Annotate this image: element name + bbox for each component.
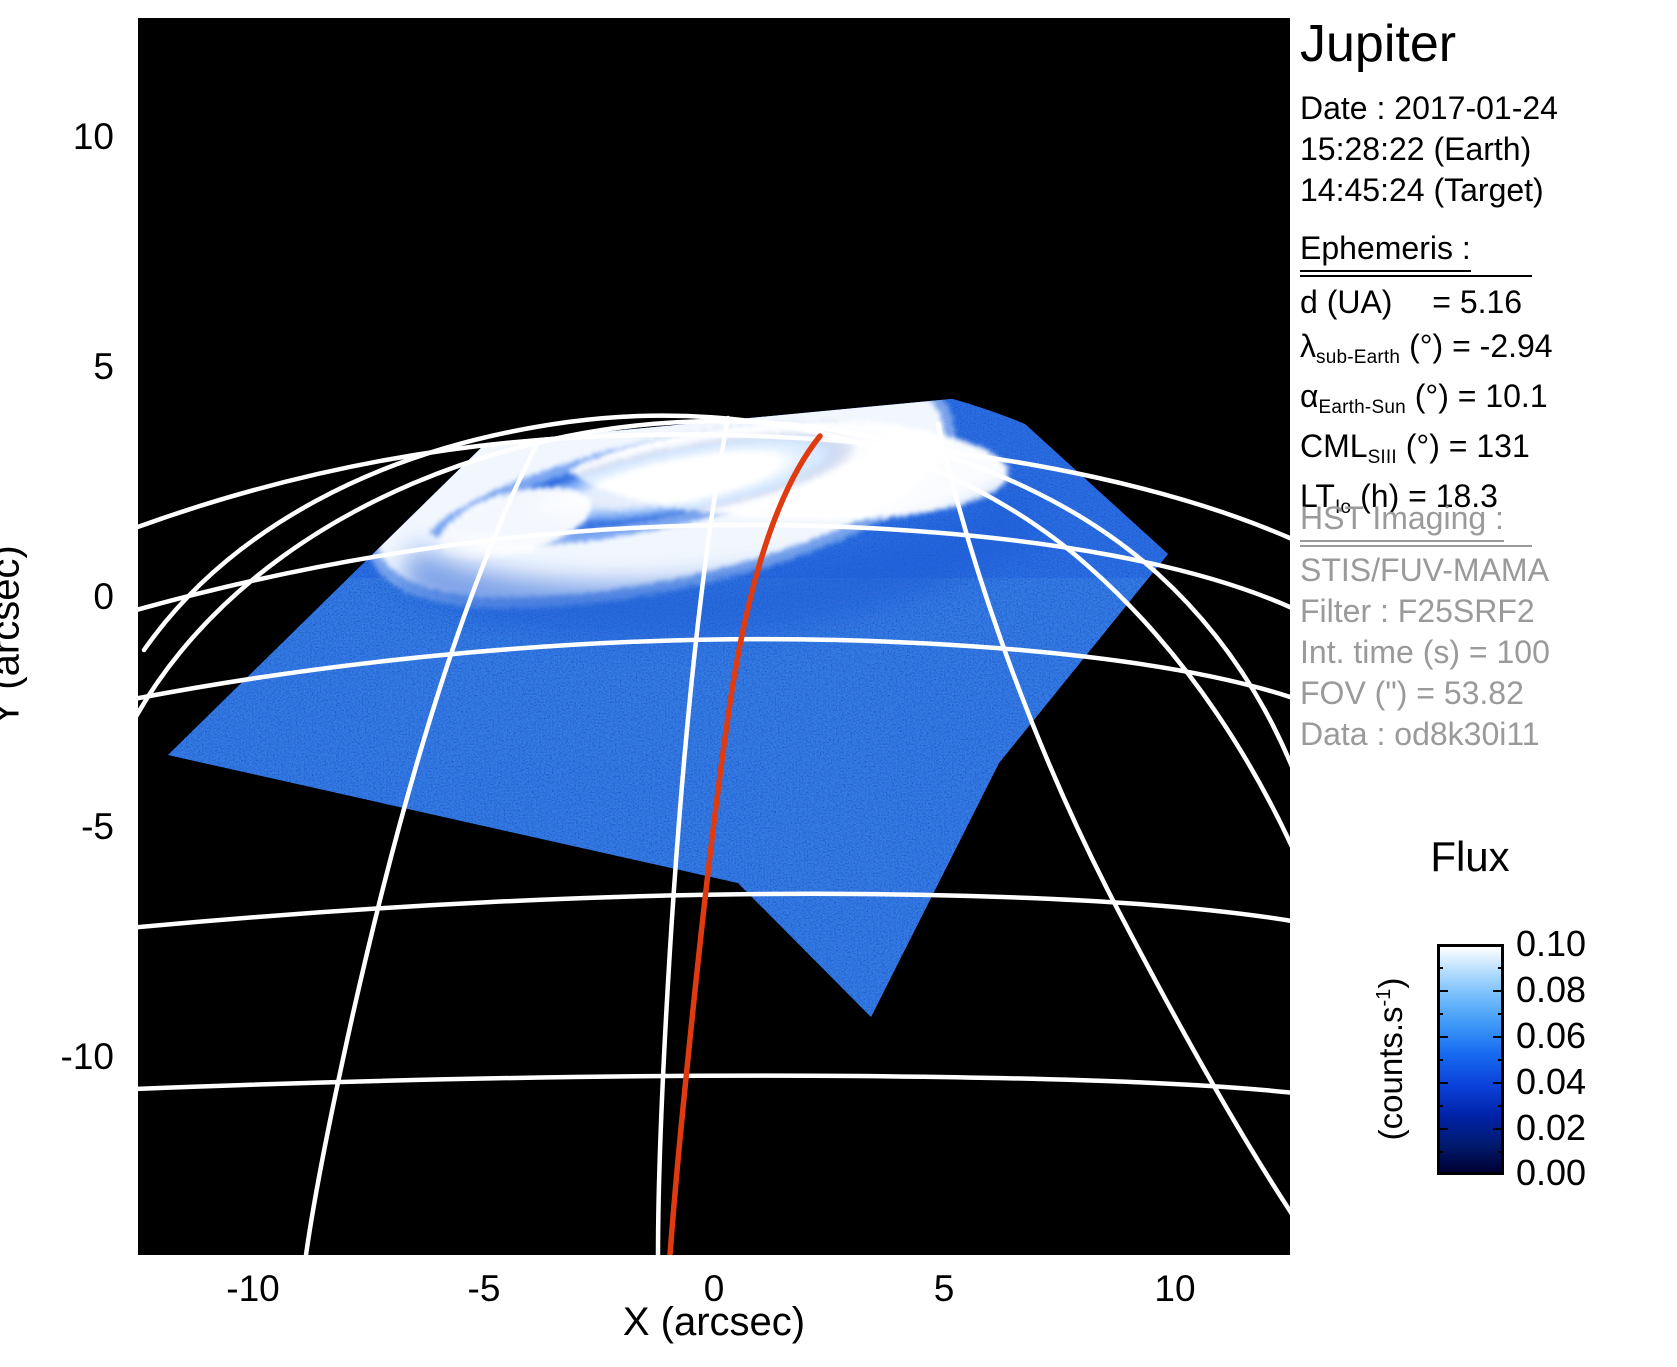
colorbar-unit-exponent: -1 [1373, 989, 1395, 1007]
colorbar-minor-tick-left [1437, 1105, 1443, 1107]
hst-fov: FOV (") = 53.82 [1300, 673, 1550, 714]
plot-canvas [138, 18, 1290, 1255]
cml-subscript: SIII [1368, 447, 1397, 468]
ephemeris-block: Ephemeris : d (UA) = 5.16 λsub-Earth (°)… [1300, 228, 1553, 524]
y-tick-label: 10 [0, 116, 114, 158]
hst-instrument: STIS/FUV-MAMA [1300, 550, 1550, 591]
x-tick-label: 10 [1154, 1268, 1195, 1310]
x-tick-label: -10 [226, 1268, 279, 1310]
x-axis-title: X (arcsec) [623, 1300, 805, 1345]
colorbar-tick-left [1437, 1128, 1448, 1130]
colorbar-tick-label: 0.04 [1516, 1061, 1586, 1103]
colorbar-minor-tick-left [1437, 1151, 1443, 1153]
colorbar-tick-label: 0.10 [1516, 923, 1586, 965]
lambda-subscript: sub-Earth [1316, 347, 1400, 368]
cml-degree-unit: (°) [1406, 428, 1440, 464]
ephemeris-row-lambda: λsub-Earth (°) = -2.94 [1300, 324, 1553, 374]
colorbar-title: Flux [1430, 833, 1509, 881]
hst-dataset-id: Data : od8k30i11 [1300, 714, 1550, 755]
colorbar-minor-tick [1498, 1105, 1504, 1107]
alpha-symbol: α [1300, 378, 1319, 414]
colorbar-minor-tick [1498, 1151, 1504, 1153]
ephemeris-divider [1300, 275, 1532, 277]
y-tick-label: 5 [0, 346, 114, 388]
observation-time-earth: 15:28:22 (Earth) [1300, 129, 1558, 170]
colorbar-tick [1493, 1173, 1504, 1175]
alpha-degree-unit: (°) [1415, 378, 1449, 414]
colorbar-minor-tick-left [1437, 1013, 1443, 1015]
lambda-degree-unit: (°) [1409, 328, 1443, 364]
hst-filter: Filter : F25SRF2 [1300, 591, 1550, 632]
colorbar-tick-label: 0.08 [1516, 969, 1586, 1011]
colorbar-minor-tick-left [1437, 1059, 1443, 1061]
colorbar-tick-left [1437, 1036, 1448, 1038]
colorbar-ticks [1437, 944, 1504, 1175]
jupiter-aurora-figure: 10 5 0 -5 -10 -10 -5 0 5 10 Y (arcsec) X… [0, 0, 1677, 1367]
colorbar-tick [1493, 990, 1504, 992]
hst-header: HST Imaging : [1300, 498, 1550, 542]
hst-imaging-block: HST Imaging : STIS/FUV-MAMA Filter : F25… [1300, 498, 1550, 755]
colorbar-unit-suffix: ) [1372, 978, 1409, 989]
ephemeris-distance-label: d (UA) [1300, 284, 1392, 320]
observation-date: Date : 2017-01-24 [1300, 88, 1558, 129]
lambda-symbol: λ [1300, 328, 1316, 364]
colorbar-unit-label: (counts.s-1) [1372, 978, 1410, 1141]
colorbar-tick [1493, 1036, 1504, 1038]
observation-time-target: 14:45:24 (Target) [1300, 170, 1558, 211]
alpha-subscript: Earth-Sun [1319, 397, 1406, 418]
y-tick-label: -10 [0, 1036, 114, 1078]
y-axis-title: Y (arcsec) [0, 426, 29, 846]
ephemeris-header-text: Ephemeris : [1300, 228, 1471, 272]
colorbar-tick-left [1437, 1082, 1448, 1084]
colorbar-tick-label: 0.06 [1516, 1015, 1586, 1057]
colorbar-tick-label: 0.02 [1516, 1107, 1586, 1149]
colorbar-tick [1493, 1082, 1504, 1084]
lambda-value: = -2.94 [1452, 328, 1553, 364]
alpha-value: = 10.1 [1458, 378, 1548, 414]
hst-divider [1300, 545, 1532, 547]
ephemeris-header: Ephemeris : [1300, 228, 1553, 272]
colorbar-tick [1493, 1128, 1504, 1130]
ephemeris-distance-value: = 5.16 [1432, 284, 1522, 320]
x-tick-label: -5 [468, 1268, 501, 1310]
hst-header-text: HST Imaging : [1300, 498, 1504, 542]
hst-int-time: Int. time (s) = 100 [1300, 632, 1550, 673]
ephemeris-row-cml: CMLSIII (°) = 131 [1300, 424, 1553, 474]
colorbar-minor-tick [1498, 1059, 1504, 1061]
colorbar-tick-label: 0.00 [1516, 1152, 1586, 1194]
colorbar-unit-prefix: (counts.s [1372, 1006, 1409, 1140]
colorbar-minor-tick [1498, 967, 1504, 969]
cml-symbol: CML [1300, 428, 1368, 464]
page-title: Jupiter [1300, 14, 1456, 74]
metadata-panel: Jupiter Date : 2017-01-24 15:28:22 (Eart… [1300, 0, 1677, 800]
ephemeris-row-distance: d (UA) = 5.16 [1300, 280, 1553, 324]
y-axis-title-text: Y (arcsec) [0, 426, 29, 846]
colorbar-minor-tick-left [1437, 967, 1443, 969]
cml-value: = 131 [1449, 428, 1530, 464]
colorbar-tick [1493, 944, 1504, 946]
ephemeris-row-alpha: αEarth-Sun (°) = 10.1 [1300, 374, 1553, 424]
image-plot-area[interactable] [138, 18, 1290, 1255]
colorbar-minor-tick [1498, 1013, 1504, 1015]
colorbar-tick-left [1437, 990, 1448, 992]
observation-date-block: Date : 2017-01-24 15:28:22 (Earth) 14:45… [1300, 88, 1558, 211]
x-tick-label: 5 [934, 1268, 955, 1310]
